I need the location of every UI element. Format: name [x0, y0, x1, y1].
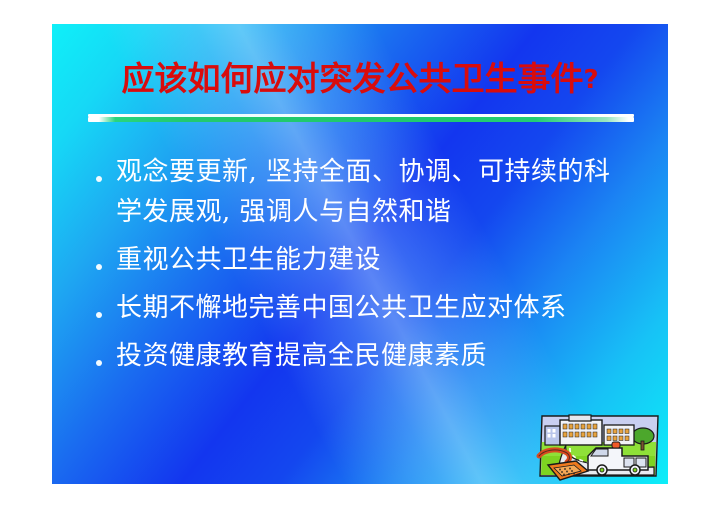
list-item-label: 观念要更新, 坚持全面、协调、可持续的科学发展观, 强调人与自然和谐	[116, 152, 636, 232]
slide-title-text: 应该如何应对突发公共卫生事件	[121, 59, 583, 98]
list-item-label: 重视公共卫生能力建设	[116, 240, 636, 280]
list-item-label: 长期不懈地完善中国公共卫生应对体系	[116, 288, 636, 328]
list-item: 观念要更新, 坚持全面、协调、可持续的科学发展观, 强调人与自然和谐	[96, 152, 636, 232]
bullet-list: 观念要更新, 坚持全面、协调、可持续的科学发展观, 强调人与自然和谐 重视公共卫…	[96, 152, 636, 384]
title-divider-highlight	[88, 114, 634, 117]
list-item-label: 投资健康教育提高全民健康素质	[116, 336, 636, 376]
bullet-dot-icon	[96, 288, 116, 322]
title-divider-green-bar	[88, 117, 634, 122]
slide-canvas: 应该如何应对突发公共卫生事件? 观念要更新, 坚持全面、协调、可持续的科学发展观…	[52, 24, 668, 484]
slide-title: 应该如何应对突发公共卫生事件?	[52, 58, 668, 101]
list-item: 重视公共卫生能力建设	[96, 240, 636, 280]
bullet-dot-icon	[96, 240, 116, 274]
slide-page: 应该如何应对突发公共卫生事件? 观念要更新, 坚持全面、协调、可持续的科学发展观…	[0, 0, 720, 509]
bullet-dot-icon	[96, 336, 116, 370]
title-divider	[88, 114, 634, 123]
list-item: 投资健康教育提高全民健康素质	[96, 336, 636, 376]
bullet-dot-icon	[96, 152, 116, 186]
list-item: 长期不懈地完善中国公共卫生应对体系	[96, 288, 636, 328]
hospital-ambulance-telephone-icon	[536, 412, 662, 482]
slide-title-question-mark: ?	[583, 65, 598, 95]
